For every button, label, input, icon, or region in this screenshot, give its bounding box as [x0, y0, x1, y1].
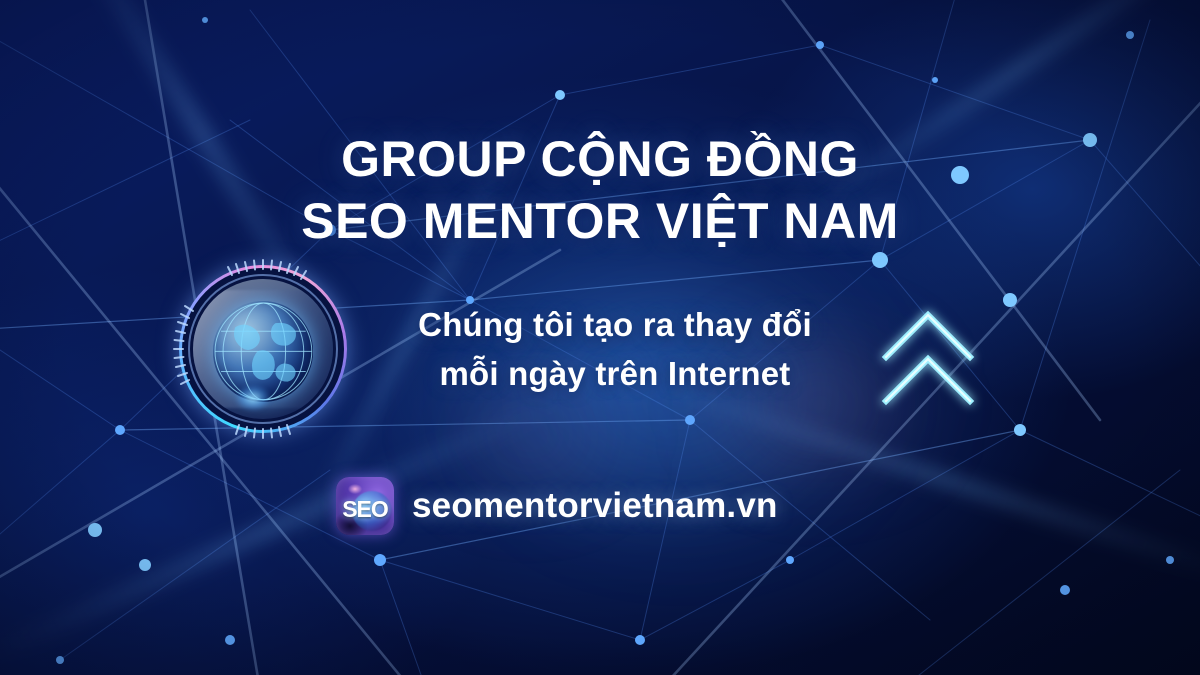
seo-app-icon[interactable]: SEO	[336, 477, 394, 535]
page-title: GROUP CỘNG ĐỒNG SEO MENTOR VIỆT NAM	[0, 128, 1200, 252]
promo-banner: GROUP CỘNG ĐỒNG SEO MENTOR VIỆT NAM Chún…	[0, 0, 1200, 675]
title-line-1: GROUP CỘNG ĐỒNG	[0, 128, 1200, 190]
subtitle: Chúng tôi tạo ra thay đổi mỗi ngày trên …	[355, 300, 875, 398]
title-line-2: SEO MENTOR VIỆT NAM	[0, 190, 1200, 252]
app-icon-label: SEO	[336, 477, 394, 535]
double-chevron-up-icon	[880, 305, 976, 409]
emblem-tick-marks	[171, 257, 355, 441]
website-url-text[interactable]: seomentorvietnam.vn	[412, 486, 778, 526]
subtitle-line-2: mỗi ngày trên Internet	[355, 349, 875, 398]
subtitle-line-1: Chúng tôi tạo ra thay đổi	[355, 300, 875, 349]
website-url-row[interactable]: SEO seomentorvietnam.vn	[336, 477, 778, 535]
globe-emblem-icon	[179, 265, 347, 433]
